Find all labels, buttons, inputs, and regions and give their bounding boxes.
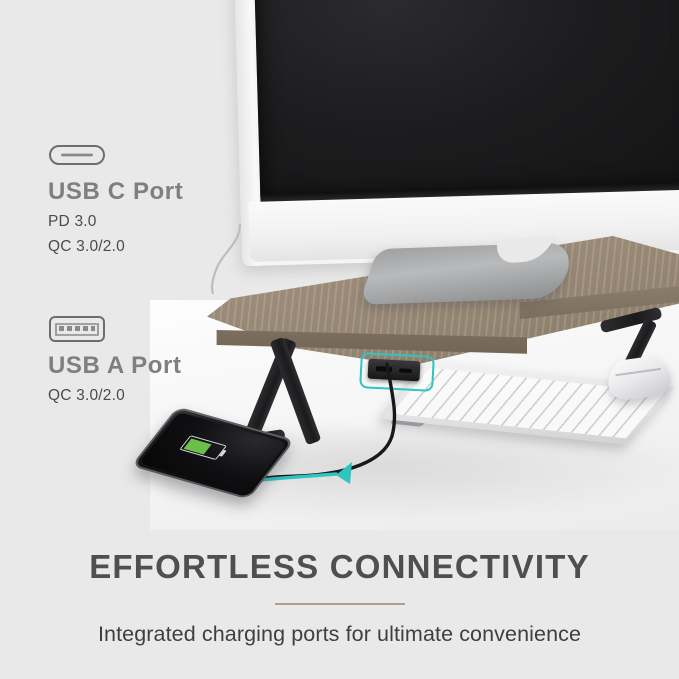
- monitor-screen: [254, 0, 679, 199]
- feature-spec-line: QC 3.0/2.0: [48, 238, 183, 256]
- feature-usb-a: USB A Port QC 3.0/2.0: [48, 312, 182, 405]
- usb-c-port-icon: [48, 138, 183, 172]
- subheadline: Integrated charging ports for ultimate c…: [0, 622, 679, 647]
- product-feature-image: USB C Port PD 3.0 QC 3.0/2.0 USB A Port …: [0, 0, 679, 679]
- feature-title: USB A Port: [48, 352, 182, 380]
- mouse-seam: [615, 368, 661, 376]
- feature-title: USB C Port: [48, 178, 183, 206]
- feature-spec-line: QC 3.0/2.0: [48, 387, 182, 405]
- battery-fill: [183, 438, 211, 454]
- monitor-stand-notch: [491, 235, 554, 264]
- monitor-power-cable: [200, 224, 260, 294]
- monitor-stand-foot: [359, 242, 577, 305]
- caption-divider: [275, 603, 405, 605]
- feature-spec-line: PD 3.0: [48, 213, 183, 231]
- feature-usb-c: USB C Port PD 3.0 QC 3.0/2.0: [48, 138, 183, 256]
- caption-block: EFFORTLESS CONNECTIVITY Integrated charg…: [0, 548, 679, 647]
- monitor: [234, 0, 679, 266]
- headline: EFFORTLESS CONNECTIVITY: [0, 548, 679, 586]
- usb-a-port-icon: [48, 312, 182, 346]
